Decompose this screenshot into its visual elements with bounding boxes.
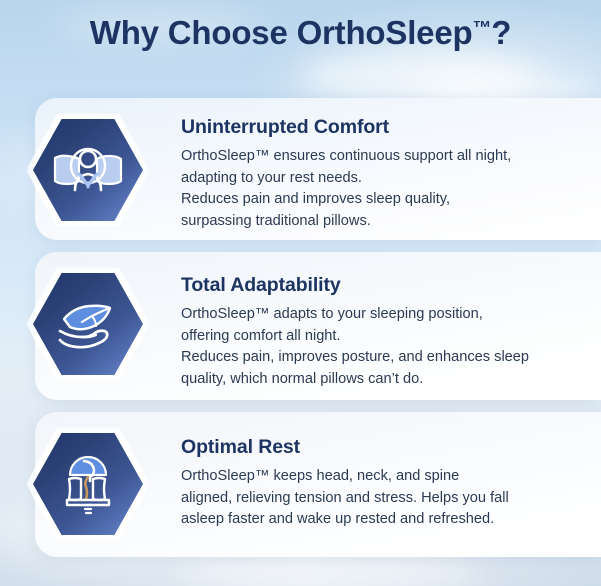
hand-holding-feather-icon	[54, 298, 122, 350]
feature-body-line: Reduces pain, improves posture, and enha…	[181, 347, 587, 369]
feature-body-line: quality, which normal pillows can’t do.	[181, 369, 587, 391]
feature-body-line: OrthoSleep™ adapts to your sleeping posi…	[181, 304, 587, 326]
feature-body-line: OrthoSleep™ keeps head, neck, and spine	[181, 466, 587, 488]
feature-heading-3: Optimal Rest	[181, 436, 587, 459]
head-neck-spine-alignment-icon	[55, 453, 121, 515]
feature-icon-badge-3	[33, 432, 143, 536]
feature-heading-1: Uninterrupted Comfort	[181, 116, 587, 139]
page-title-end: ?	[491, 14, 511, 51]
cloud-wisp	[300, 50, 540, 104]
feature-body-line: aligned, relieving tension and stress. H…	[181, 488, 587, 510]
sleeping-person-pillows-icon	[52, 142, 124, 198]
feature-text-block-3: Optimal Rest OrthoSleep™ keeps head, nec…	[181, 436, 587, 531]
feature-heading-2: Total Adaptability	[181, 274, 587, 297]
feature-body-line: OrthoSleep™ ensures continuous support a…	[181, 146, 587, 168]
feature-body-line: Reduces pain and improves sleep quality,	[181, 189, 587, 211]
feature-body-line: adapting to your rest needs.	[181, 168, 587, 190]
feature-icon-badge-2	[33, 272, 143, 376]
feature-body-line: offering comfort all night.	[181, 326, 587, 348]
feature-icon-badge-1	[33, 118, 143, 222]
feature-body-line: asleep faster and wake up rested and ref…	[181, 509, 587, 531]
feature-text-block-2: Total Adaptability OrthoSleep™ adapts to…	[181, 274, 587, 390]
page-title-main: Why Choose OrthoSleep	[90, 14, 473, 51]
infographic-poster: Why Choose OrthoSleep™? Uninterr	[0, 0, 601, 586]
trademark-symbol: ™	[472, 18, 491, 39]
feature-body-line: surpassing traditional pillows.	[181, 211, 587, 233]
page-title: Why Choose OrthoSleep™?	[0, 14, 601, 52]
feature-text-block-1: Uninterrupted Comfort OrthoSleep™ ensure…	[181, 116, 587, 232]
